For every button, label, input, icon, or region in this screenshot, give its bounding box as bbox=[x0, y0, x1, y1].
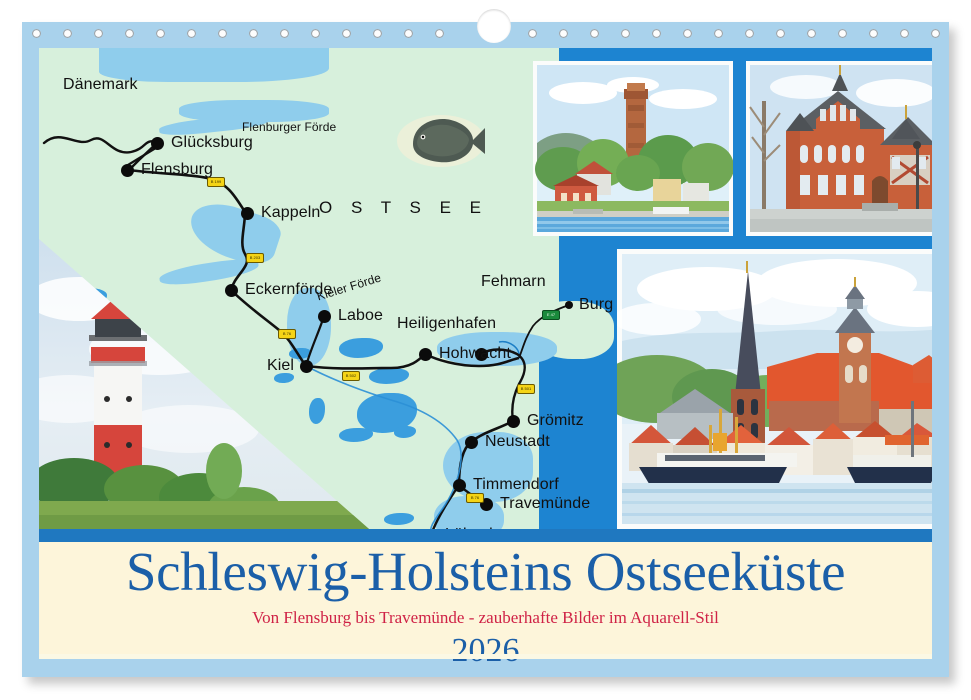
binding-hole bbox=[404, 29, 413, 38]
binding-hole bbox=[931, 29, 940, 38]
city-dot-neustadt bbox=[465, 436, 478, 449]
binding-hole bbox=[187, 29, 196, 38]
calendar-year: 2026 bbox=[39, 632, 932, 670]
binding-hole bbox=[745, 29, 754, 38]
binding-hole bbox=[621, 29, 630, 38]
city-dot-flensburg bbox=[121, 164, 134, 177]
lighthouse-tower-watercolor bbox=[533, 61, 733, 236]
label-ostsee: O S T S E E bbox=[319, 198, 488, 218]
city-dot-grömitz bbox=[507, 415, 520, 428]
binding-hole bbox=[218, 29, 227, 38]
binding-hole bbox=[94, 29, 103, 38]
map-board: Dänemark O S T S E E Flenburger Förde Ki… bbox=[39, 48, 932, 529]
city-dot-hohwacht bbox=[419, 348, 432, 361]
binding-hole bbox=[590, 29, 599, 38]
binding-hole bbox=[900, 29, 909, 38]
binding-hole bbox=[32, 29, 41, 38]
hanging-hole bbox=[477, 9, 511, 43]
label-fehmarn: Fehmarn bbox=[481, 273, 546, 291]
binding-hole bbox=[807, 29, 816, 38]
binding-hole bbox=[838, 29, 847, 38]
road-shield: B 199 bbox=[207, 177, 225, 187]
calendar-title: Schleswig-Holsteins Ostseeküste bbox=[39, 540, 932, 603]
title-panel: Schleswig-Holsteins Ostseeküste Von Flen… bbox=[39, 542, 932, 654]
binding-hole bbox=[311, 29, 320, 38]
city-label-timmendorf: Timmendorf bbox=[473, 476, 559, 494]
calendar-sheet: Dänemark O S T S E E Flenburger Förde Ki… bbox=[22, 22, 949, 677]
binding-hole bbox=[528, 29, 537, 38]
binding-hole bbox=[63, 29, 72, 38]
city-label-hohwacht: Hohwacht bbox=[439, 345, 511, 363]
city-label-heiligenhafen: Heiligenhafen bbox=[397, 315, 496, 333]
binding-hole bbox=[342, 29, 351, 38]
road-shield: B 76 bbox=[466, 493, 484, 503]
spiral-binding-strip bbox=[22, 22, 949, 48]
road-shield: B 501 bbox=[517, 384, 535, 394]
calendar-cover: Dänemark O S T S E E Flenburger Förde Ki… bbox=[0, 0, 971, 700]
city-label-kappeln: Kappeln bbox=[261, 204, 320, 222]
flounder-fish-icon bbox=[393, 106, 489, 176]
binding-hole bbox=[156, 29, 165, 38]
lighthouse-falshoeft-photo bbox=[39, 239, 369, 529]
binding-hole bbox=[435, 29, 444, 38]
city-dot-kappeln bbox=[241, 207, 254, 220]
road-shield: E 47 bbox=[542, 310, 560, 320]
label-flensburger-foerde: Flenburger Förde bbox=[242, 120, 336, 134]
binding-hole bbox=[249, 29, 258, 38]
panel-bottom-edge bbox=[39, 654, 932, 659]
binding-hole bbox=[373, 29, 382, 38]
binding-hole bbox=[559, 29, 568, 38]
city-dot-timmendorf bbox=[453, 479, 466, 492]
city-label-grömitz: Grömitz bbox=[527, 412, 584, 430]
harbour-town-watercolor bbox=[617, 249, 932, 529]
city-label-flensburg: Flensburg bbox=[141, 161, 213, 179]
city-label-glücksburg: Glücksburg bbox=[171, 134, 253, 152]
town-hall-watercolor bbox=[746, 61, 932, 236]
city-label-neustadt: Neustadt bbox=[485, 433, 550, 451]
city-label-travemünde: Travemünde bbox=[500, 495, 590, 513]
calendar-subtitle: Von Flensburg bis Travemünde - zauberhaf… bbox=[39, 608, 932, 628]
city-dot-burg bbox=[565, 301, 573, 309]
binding-hole bbox=[280, 29, 289, 38]
binding-hole bbox=[776, 29, 785, 38]
label-denmark: Dänemark bbox=[63, 76, 138, 94]
binding-hole bbox=[125, 29, 134, 38]
city-dot-glücksburg bbox=[151, 137, 164, 150]
binding-hole bbox=[714, 29, 723, 38]
city-label-burg: Burg bbox=[579, 296, 613, 314]
binding-hole bbox=[869, 29, 878, 38]
binding-hole bbox=[652, 29, 661, 38]
binding-hole bbox=[683, 29, 692, 38]
